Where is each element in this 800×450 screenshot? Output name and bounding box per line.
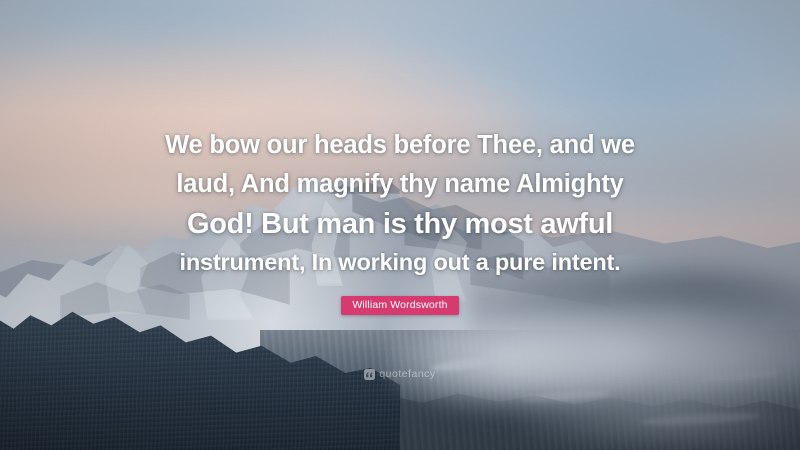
quote-text-block: We bow our heads before Thee, and we lau… — [0, 133, 800, 275]
quote-line-1: We bow our heads before Thee, and we — [80, 133, 720, 172]
quote-line-3: God! But man is thy most awful — [80, 210, 720, 251]
author-badge-container: William Wordsworth — [0, 295, 800, 315]
cloud-wisp-low — [520, 398, 800, 450]
cloud-bank-light-left — [392, 316, 652, 406]
quote-wallpaper: We bow our heads before Thee, and we lau… — [0, 0, 800, 450]
author-name-badge[interactable]: William Wordsworth — [341, 296, 458, 315]
quote-line-2: laud, And magnify thy name Almighty — [80, 172, 720, 211]
quote-line-4: instrument, In working out a pure intent… — [80, 251, 720, 275]
